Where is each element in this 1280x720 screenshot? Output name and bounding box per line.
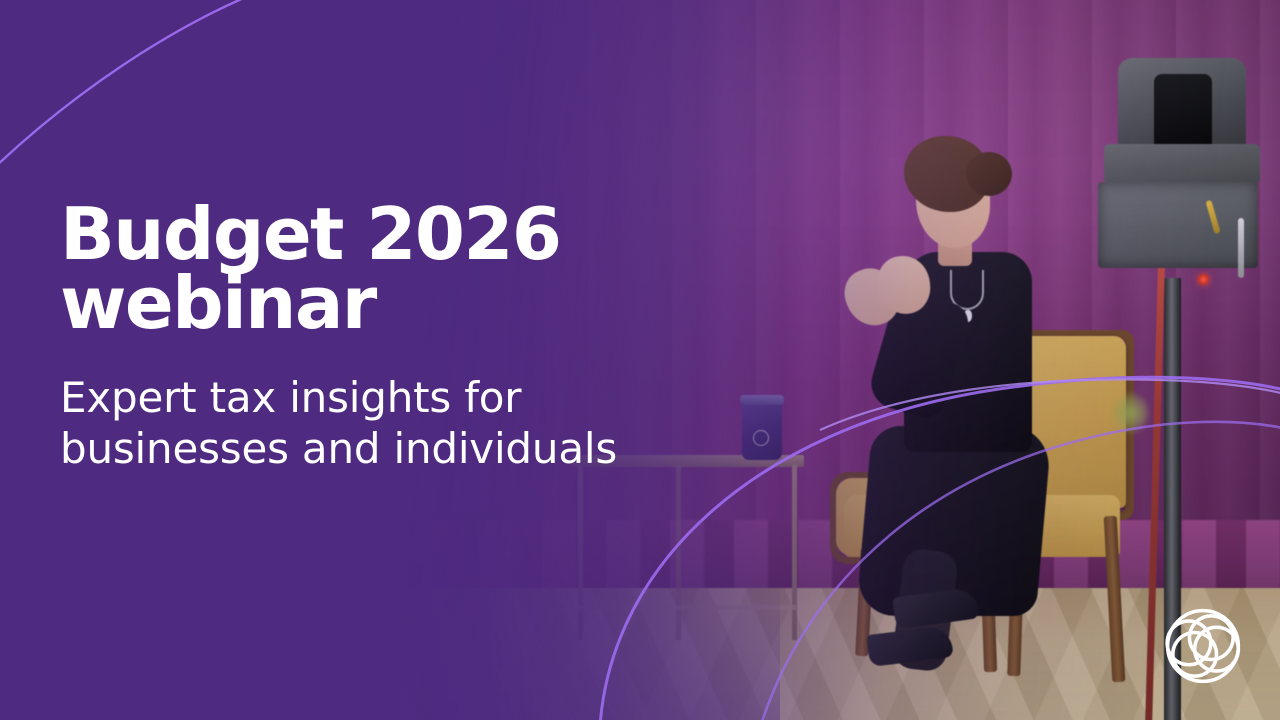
page-subtitle: Expert tax insights for businesses and i… xyxy=(60,372,680,474)
camera-connector-panel xyxy=(1098,182,1258,268)
subtitle-line-1: Expert tax insights for xyxy=(60,373,521,422)
camera-lens xyxy=(1154,74,1212,148)
speaker-hair-bun xyxy=(966,152,1012,196)
camera-body xyxy=(1104,144,1260,184)
seated-speaker xyxy=(820,130,1120,650)
page-title: Budget 2026 webinar xyxy=(60,200,760,338)
table-leg xyxy=(578,465,583,640)
table-leg xyxy=(792,465,797,640)
webinar-title-card: Budget 2026 webinar Expert tax insights … xyxy=(0,0,1280,720)
title-block: Budget 2026 webinar Expert tax insights … xyxy=(60,200,760,475)
camera-cable-grey xyxy=(1238,218,1244,278)
camera-tally-led-icon xyxy=(1198,274,1209,285)
table-rail xyxy=(578,605,796,610)
rosette-aperture-logo xyxy=(1151,594,1255,698)
background-highlight xyxy=(1114,393,1148,433)
title-line-2: webinar xyxy=(60,261,376,345)
wire-frame-side-table xyxy=(572,455,804,640)
table-leg xyxy=(676,465,681,640)
subtitle-line-2: businesses and individuals xyxy=(60,424,617,473)
